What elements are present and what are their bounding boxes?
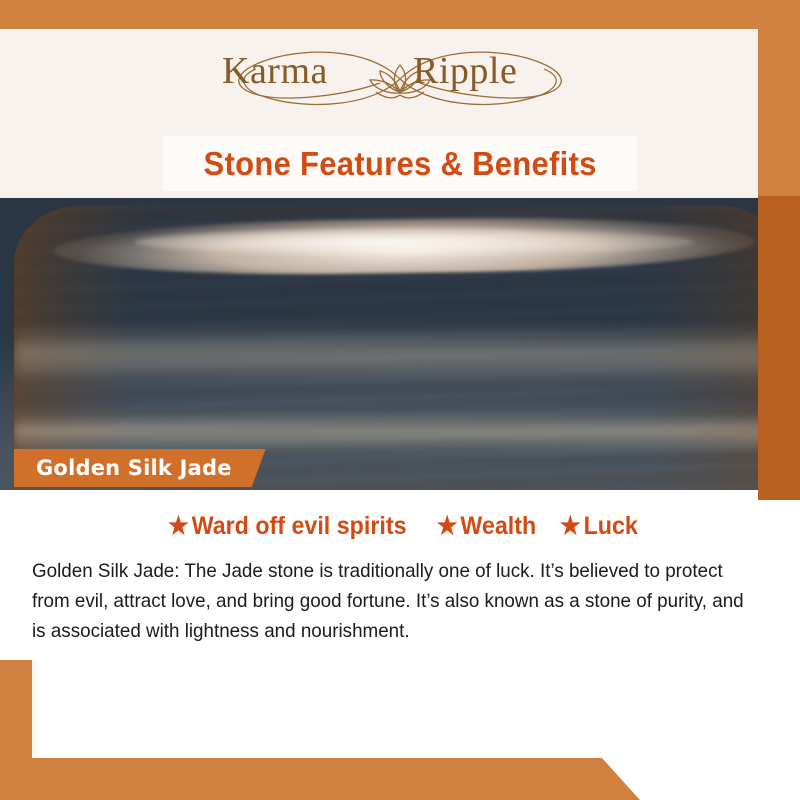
content-area: ★ Ward off evil spirits ★ Wealth ★ Luck … [0,490,800,800]
frame-bottom-bar [0,758,640,800]
stone-description: Golden Silk Jade: The Jade stone is trad… [32,556,748,646]
benefit-label-1: Ward off evil spirits [192,512,407,541]
page-title: Stone Features & Benefits [203,145,596,183]
stone-sheen [14,325,786,385]
benefit-label-2: Wealth [460,512,536,541]
product-info-card: Karma Ripple Stone Features & Benefits G… [0,0,800,800]
stone-crest-highlight-core [134,229,694,255]
frame-right-bar-shaded [758,196,800,500]
title-card: Stone Features & Benefits [163,136,637,191]
stone-lower-band [14,413,786,453]
brand-name-right: Ripple [413,49,517,93]
star-icon: ★ [560,514,581,539]
frame-left-inner-gap [32,660,38,758]
stone-name-label: Golden Silk Jade [36,456,232,480]
frame-top-bar [0,0,800,29]
brand-logo: Karma Ripple [0,29,800,129]
jade-stone-image [14,205,786,490]
stone-name-badge: Golden Silk Jade [14,449,266,487]
benefits-list: ★ Ward off evil spirits ★ Wealth ★ Luck [0,512,800,541]
star-icon: ★ [168,514,189,539]
brand-name-left: Karma [222,49,328,93]
benefit-item-2: ★ Wealth [437,512,536,541]
benefit-item-3: ★ Luck [560,512,638,541]
benefit-label-3: Luck [583,512,637,541]
brand-header: Karma Ripple [0,29,800,129]
stone-photo [0,197,800,490]
star-icon: ★ [437,514,458,539]
benefit-item-1: ★ Ward off evil spirits [168,512,407,541]
